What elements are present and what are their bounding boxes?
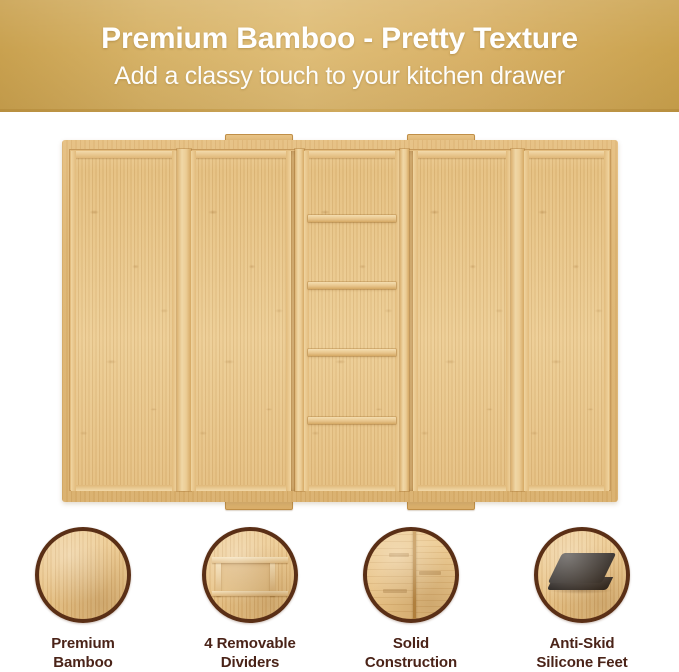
compartment-rim-top <box>71 151 177 158</box>
compartment-rim-left <box>71 151 76 491</box>
banner-title: Premium Bamboo - Pretty Texture <box>0 22 679 56</box>
product-image-canvas: Premium Bamboo - Pretty Texture Add a cl… <box>0 0 679 662</box>
divider-wall-3 <box>400 149 409 491</box>
feature-label-removable-dividers: 4 Removable Dividers <box>165 634 335 672</box>
feature-label-line1: Anti-Skid <box>497 634 667 653</box>
compartment-left-narrow <box>71 151 177 491</box>
compartment-rim-left <box>304 151 309 491</box>
compartment-rim-top <box>524 151 609 158</box>
compartment-rim-bottom <box>191 485 291 491</box>
compartment-right-wide <box>413 151 511 491</box>
compartment-knots <box>524 151 609 491</box>
compartment-grain <box>304 151 400 491</box>
feature-solid-construction: Solid Construction <box>326 520 496 672</box>
feature-label-line2: Bamboo <box>0 653 168 672</box>
icon-shading <box>538 531 626 619</box>
compartment-rim-left <box>524 151 529 491</box>
dividers-shelf-icon <box>202 527 298 623</box>
compartment-rim-left <box>413 151 418 491</box>
compartment-knots <box>71 151 177 491</box>
compartment-grain <box>413 151 511 491</box>
divider-wall-4 <box>511 149 524 491</box>
feature-label-premium-bamboo: Premium Bamboo <box>0 634 168 672</box>
compartment-rim-top <box>304 151 400 158</box>
divider-wall-2 <box>295 149 304 491</box>
removable-divider-3 <box>308 349 396 356</box>
feature-anti-skid-feet: Anti-Skid Silicone Feet <box>497 520 667 672</box>
compartment-rim-bottom <box>413 485 511 491</box>
removable-divider-4 <box>308 417 396 424</box>
compartment-right-narrow <box>524 151 609 491</box>
icon-shading <box>39 531 127 619</box>
compartment-knots <box>304 151 400 491</box>
feature-removable-dividers: 4 Removable Dividers <box>165 520 335 672</box>
icon-shading <box>206 531 294 619</box>
bamboo-disc-icon <box>35 527 131 623</box>
feature-label-line2: Dividers <box>165 653 335 672</box>
feature-label-line1: Solid <box>326 634 496 653</box>
removable-divider-1 <box>308 215 396 222</box>
silicone-foot-icon <box>534 527 630 623</box>
feature-label-solid-construction: Solid Construction <box>326 634 496 672</box>
header-banner: Premium Bamboo - Pretty Texture Add a cl… <box>0 0 679 112</box>
compartment-grain <box>71 151 177 491</box>
compartment-rim-left <box>191 151 196 491</box>
compartment-rim-right <box>604 151 609 491</box>
feature-premium-bamboo: Premium Bamboo <box>0 520 168 672</box>
feature-label-line2: Construction <box>326 653 496 672</box>
compartment-rim-top <box>413 151 511 158</box>
compartment-grain <box>524 151 609 491</box>
compartment-knots <box>191 151 291 491</box>
icon-shading <box>367 531 455 619</box>
feature-label-line2: Silicone Feet <box>497 653 667 672</box>
compartment-knots <box>413 151 511 491</box>
feature-label-line1: Premium <box>0 634 168 653</box>
compartment-left-wide <box>191 151 291 491</box>
product-drawer-organizer <box>62 140 618 502</box>
banner-subtitle: Add a classy touch to your kitchen drawe… <box>0 62 679 91</box>
organizer-outer-frame <box>62 140 618 502</box>
compartment-rim-bottom <box>304 485 400 491</box>
corner-joint-icon <box>363 527 459 623</box>
compartment-grain <box>191 151 291 491</box>
removable-divider-2 <box>308 282 396 289</box>
compartment-rim-bottom <box>524 485 609 491</box>
center-divided-column <box>304 151 400 491</box>
feature-label-anti-skid-feet: Anti-Skid Silicone Feet <box>497 634 667 672</box>
feature-label-line1: 4 Removable <box>165 634 335 653</box>
compartment-rim-bottom <box>71 485 177 491</box>
feature-highlights-row: Premium Bamboo 4 Removable Dividers <box>0 520 679 662</box>
divider-wall-1 <box>177 149 191 491</box>
compartment-rim-top <box>191 151 291 158</box>
